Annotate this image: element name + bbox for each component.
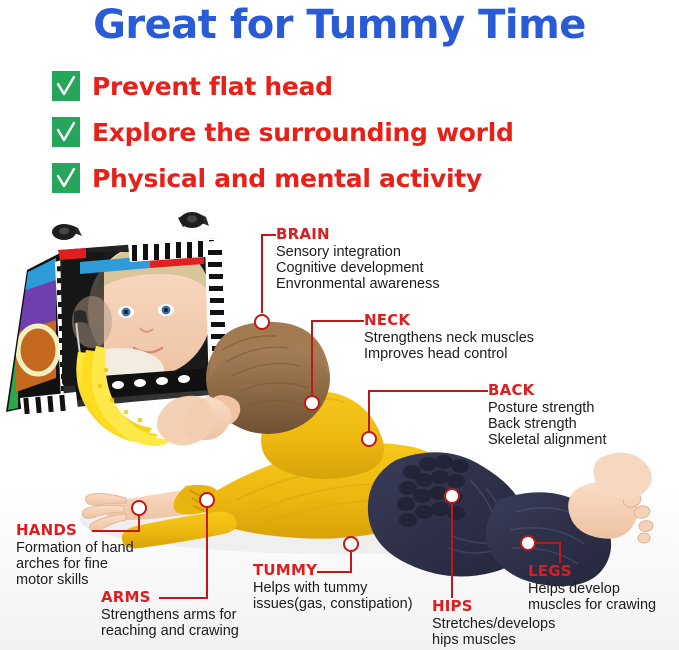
callout-legs: LEGS Helps develop muscles for crawing — [528, 563, 656, 613]
benefit-item-2: Physical and mental activity — [52, 159, 652, 197]
callout-line: Posture strength — [488, 400, 607, 416]
check-icon — [52, 163, 80, 193]
benefits-list: Prevent flat head Explore the surroundin… — [52, 67, 652, 205]
callout-tummy: TUMMY Helps with tummy issues(gas, const… — [253, 562, 413, 612]
callout-line: Strengthens arms for — [101, 607, 239, 623]
callout-body: Helps develop muscles for crawing — [528, 581, 656, 613]
callout-back: BACK Posture strength Back strength Skel… — [488, 382, 607, 448]
benefit-item-0: Prevent flat head — [52, 67, 652, 105]
callout-line: reaching and crawing — [101, 623, 239, 639]
benefit-label: Prevent flat head — [92, 72, 333, 101]
callout-line: Formation of hand — [16, 540, 134, 556]
callout-hands: HANDS Formation of hand arches for fine … — [16, 522, 134, 588]
callout-line: Cognitive development — [276, 260, 440, 276]
callout-arms: ARMS Strengthens arms for reaching and c… — [101, 589, 239, 639]
page-title: Great for Tummy Time — [0, 2, 679, 48]
callout-line: hips muscles — [432, 632, 555, 648]
callout-title: TUMMY — [253, 562, 413, 579]
callout-line: Stretches/develops — [432, 616, 555, 632]
callout-line: Back strength — [488, 416, 607, 432]
callout-body: Strengthens arms for reaching and crawin… — [101, 607, 239, 639]
callout-line: Skeletal alignment — [488, 432, 607, 448]
callout-title: BRAIN — [276, 226, 440, 243]
callout-line: issues(gas, constipation) — [253, 596, 413, 612]
callout-title: NECK — [364, 312, 534, 329]
callout-title: LEGS — [528, 563, 656, 580]
callout-line: Helps with tummy — [253, 580, 413, 596]
callout-body: Sensory integration Cognitive developmen… — [276, 244, 440, 292]
callout-title: HANDS — [16, 522, 134, 539]
callout-body: Stretches/develops hips muscles — [432, 616, 555, 648]
check-icon — [52, 71, 80, 101]
callout-line: Helps develop — [528, 581, 656, 597]
callout-line: Improves head control — [364, 346, 534, 362]
callout-body: Formation of hand arches for fine motor … — [16, 540, 134, 588]
callout-neck: NECK Strengthens neck muscles Improves h… — [364, 312, 534, 362]
callout-line: Envronmental awareness — [276, 276, 440, 292]
photo-scene: BRAIN Sensory integration Cognitive deve… — [0, 200, 679, 650]
benefit-label: Explore the surrounding world — [92, 118, 514, 147]
callout-line: Strengthens neck muscles — [364, 330, 534, 346]
callout-line: arches for fine — [16, 556, 134, 572]
benefit-label: Physical and mental activity — [92, 164, 482, 193]
callout-body: Strengthens neck muscles Improves head c… — [364, 330, 534, 362]
check-icon — [52, 117, 80, 147]
callout-line: muscles for crawing — [528, 597, 656, 613]
callout-title: ARMS — [101, 589, 239, 606]
callout-title: BACK — [488, 382, 607, 399]
callout-line: motor skills — [16, 572, 134, 588]
callout-brain: BRAIN Sensory integration Cognitive deve… — [276, 226, 440, 292]
callout-body: Posture strength Back strength Skeletal … — [488, 400, 607, 448]
benefit-item-1: Explore the surrounding world — [52, 113, 652, 151]
callout-line: Sensory integration — [276, 244, 440, 260]
tummy-time-infographic: Great for Tummy Time Prevent flat head E… — [0, 0, 679, 650]
callout-body: Helps with tummy issues(gas, constipatio… — [253, 580, 413, 612]
